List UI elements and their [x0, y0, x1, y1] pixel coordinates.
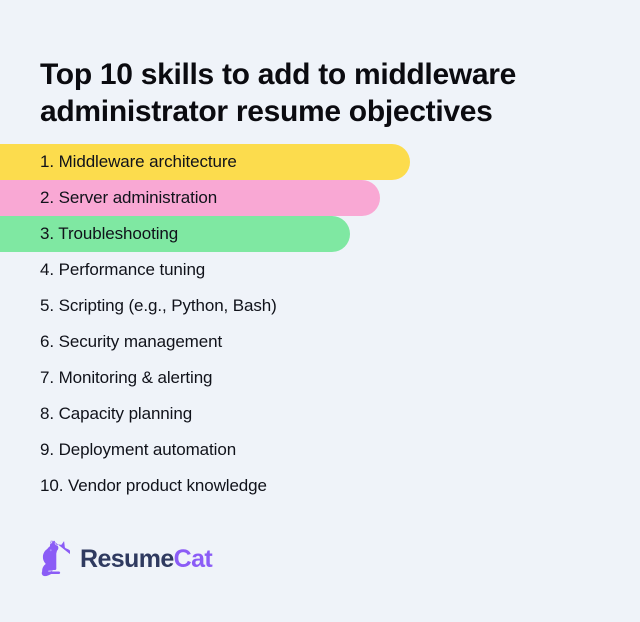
infographic-page: Top 10 skills to add to middleware admin… — [0, 0, 640, 622]
skill-item-label: 10. Vendor product knowledge — [40, 476, 267, 496]
skill-item: 2. Server administration — [0, 180, 640, 216]
skill-item: 3. Troubleshooting — [0, 216, 640, 252]
page-title-line-1: Top 10 skills to add to middleware — [40, 56, 620, 93]
skill-item: 9. Deployment automation — [0, 432, 640, 468]
skill-item: 6. Security management — [0, 324, 640, 360]
brand-logo: ResumeCat — [40, 538, 212, 580]
skill-item-label: 4. Performance tuning — [40, 260, 205, 280]
logo-word-resume: Resume — [80, 545, 174, 573]
skill-item-label: 1. Middleware architecture — [40, 152, 237, 172]
skill-item: 10. Vendor product knowledge — [0, 468, 640, 504]
page-title-line-2: administrator resume objectives — [40, 93, 620, 130]
skill-item: 8. Capacity planning — [0, 396, 640, 432]
skill-item-label: 2. Server administration — [40, 188, 217, 208]
skill-item-label: 8. Capacity planning — [40, 404, 192, 424]
skill-item-label: 3. Troubleshooting — [40, 224, 178, 244]
skills-list: 1. Middleware architecture2. Server admi… — [0, 144, 640, 504]
skill-item-label: 7. Monitoring & alerting — [40, 368, 212, 388]
logo-word-cat: Cat — [174, 545, 212, 573]
skill-item-label: 9. Deployment automation — [40, 440, 236, 460]
skill-item-label: 5. Scripting (e.g., Python, Bash) — [40, 296, 277, 316]
logo-wordmark: ResumeCat — [80, 547, 212, 572]
skill-item: 7. Monitoring & alerting — [0, 360, 640, 396]
skill-item: 1. Middleware architecture — [0, 144, 640, 180]
skill-item: 4. Performance tuning — [0, 252, 640, 288]
page-title: Top 10 skills to add to middleware admin… — [40, 56, 620, 130]
cat-icon — [40, 540, 70, 578]
skill-item: 5. Scripting (e.g., Python, Bash) — [0, 288, 640, 324]
skill-item-label: 6. Security management — [40, 332, 222, 352]
